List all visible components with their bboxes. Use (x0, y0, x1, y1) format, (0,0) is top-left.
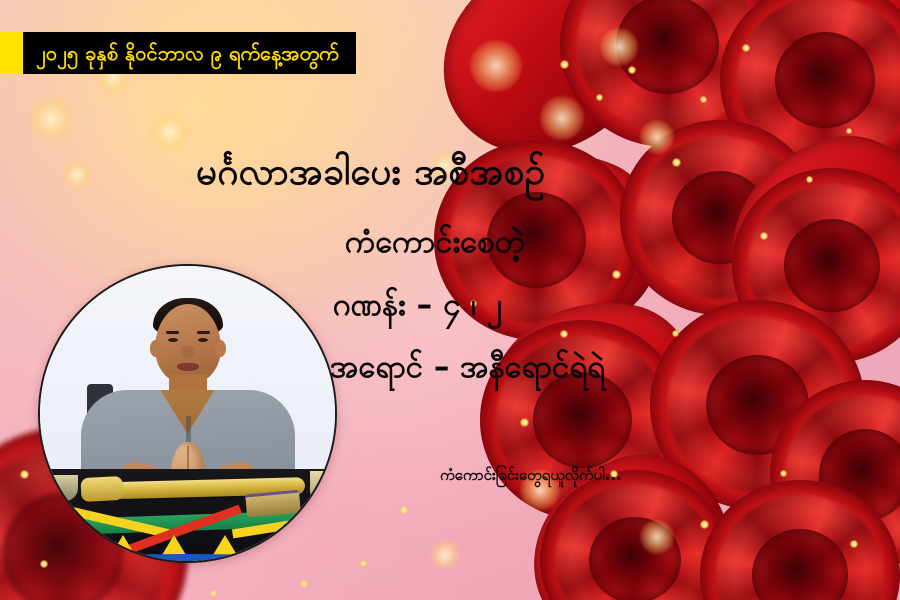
sword-hilt (81, 476, 124, 502)
number-line: ဂဏန်း – ၄ ၊ ၂ (333, 285, 502, 331)
person-brow-right (197, 331, 210, 334)
yellow-triangle-4 (264, 535, 288, 555)
person-head (155, 304, 221, 384)
chalice-stem (62, 499, 68, 515)
portrait-person (40, 266, 335, 561)
ritual-book (245, 490, 301, 518)
avatar (38, 264, 337, 563)
banner-body: ၂၀၂၅ ခုနှစ် နိုဝင်ဘာလ ၉ ရက်နေ့အတွက် (23, 32, 356, 74)
person-eye-right (198, 338, 208, 342)
rose-cluster-right (470, 0, 900, 600)
poster-canvas: ၂၀၂၅ ခုနှစ် နိုဝင်ဘာလ ၉ ရက်နေ့အတွက် မင်္… (0, 0, 900, 600)
color-line: အရောင် – အနီရောင်ရဲရဲ (330, 347, 605, 393)
banner-accent-bar (0, 32, 23, 74)
person-ear-left (150, 340, 161, 357)
person-mouth (177, 363, 199, 371)
trophy-right (310, 471, 332, 505)
banner-date-text: ၂၀၂၅ ခုနှစ် နိုဝင်ဘာလ ၉ ရက်နေ့အတွက် (36, 43, 339, 63)
footer-caption: ကံကောင်းခြင်းတွေရယူလိုက်ပါ... (440, 466, 622, 488)
chalice-foot (55, 514, 75, 522)
date-banner: ၂၀၂၅ ခုနှစ် နိုဝင်ဘာလ ၉ ရက်နေ့အတွက် (0, 32, 356, 74)
page-title: မင်္ဂလာအခါပေး အစီအစဉ် (196, 149, 545, 203)
person-nose (182, 346, 194, 359)
person-eye-left (168, 338, 178, 342)
person-ear-right (215, 340, 226, 357)
blue-table-rim (98, 554, 276, 561)
silver-chalice (52, 475, 78, 523)
chalice-cup (52, 475, 78, 501)
person-brow-left (166, 331, 179, 334)
lucky-line: ကံကောင်းစေတဲ့ (345, 222, 525, 268)
